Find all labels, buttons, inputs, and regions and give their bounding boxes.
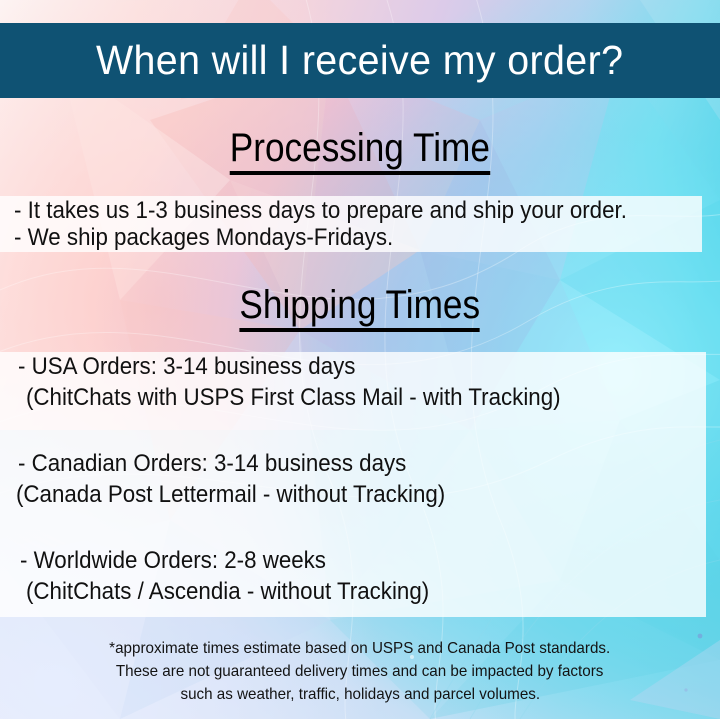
header-banner: When will I receive my order? bbox=[0, 23, 720, 98]
section-heading-shipping-times: Shipping Times bbox=[0, 285, 720, 332]
shipping-entry-usa-detail: (ChitChats with USPS First Class Mail - … bbox=[26, 386, 561, 410]
footnote-line-1-text: *approximate times estimate based on USP… bbox=[109, 641, 610, 657]
shipping-entry-canada-detail: (Canada Post Lettermail - without Tracki… bbox=[16, 483, 445, 507]
section-heading-shipping-times-text: Shipping Times bbox=[240, 285, 481, 332]
footnote-line-1: *approximate times estimate based on USP… bbox=[0, 641, 720, 657]
section-heading-processing-time: Processing Time bbox=[0, 128, 720, 175]
footnote-line-3-text: such as weather, traffic, holidays and p… bbox=[180, 687, 540, 703]
footnote-line-2: These are not guaranteed delivery times … bbox=[0, 664, 720, 680]
page-title: When will I receive my order? bbox=[96, 40, 623, 81]
faq-shipping-poster: When will I receive my order? Processing… bbox=[0, 0, 720, 719]
shipping-entry-worldwide-detail: (ChitChats / Ascendia - without Tracking… bbox=[26, 580, 429, 604]
processing-time-line-2: - We ship packages Mondays-Fridays. bbox=[14, 226, 393, 250]
section-heading-processing-time-text: Processing Time bbox=[230, 128, 490, 175]
footnote-line-3: such as weather, traffic, holidays and p… bbox=[0, 687, 720, 703]
footnote-line-2-text: These are not guaranteed delivery times … bbox=[116, 664, 604, 680]
processing-time-line-1: - It takes us 1-3 business days to prepa… bbox=[14, 199, 627, 223]
shipping-entry-worldwide-title: - Worldwide Orders: 2-8 weeks bbox=[20, 549, 326, 573]
shipping-entry-usa-title: - USA Orders: 3-14 business days bbox=[18, 355, 355, 379]
shipping-entry-canada-title: - Canadian Orders: 3-14 business days bbox=[18, 452, 406, 476]
